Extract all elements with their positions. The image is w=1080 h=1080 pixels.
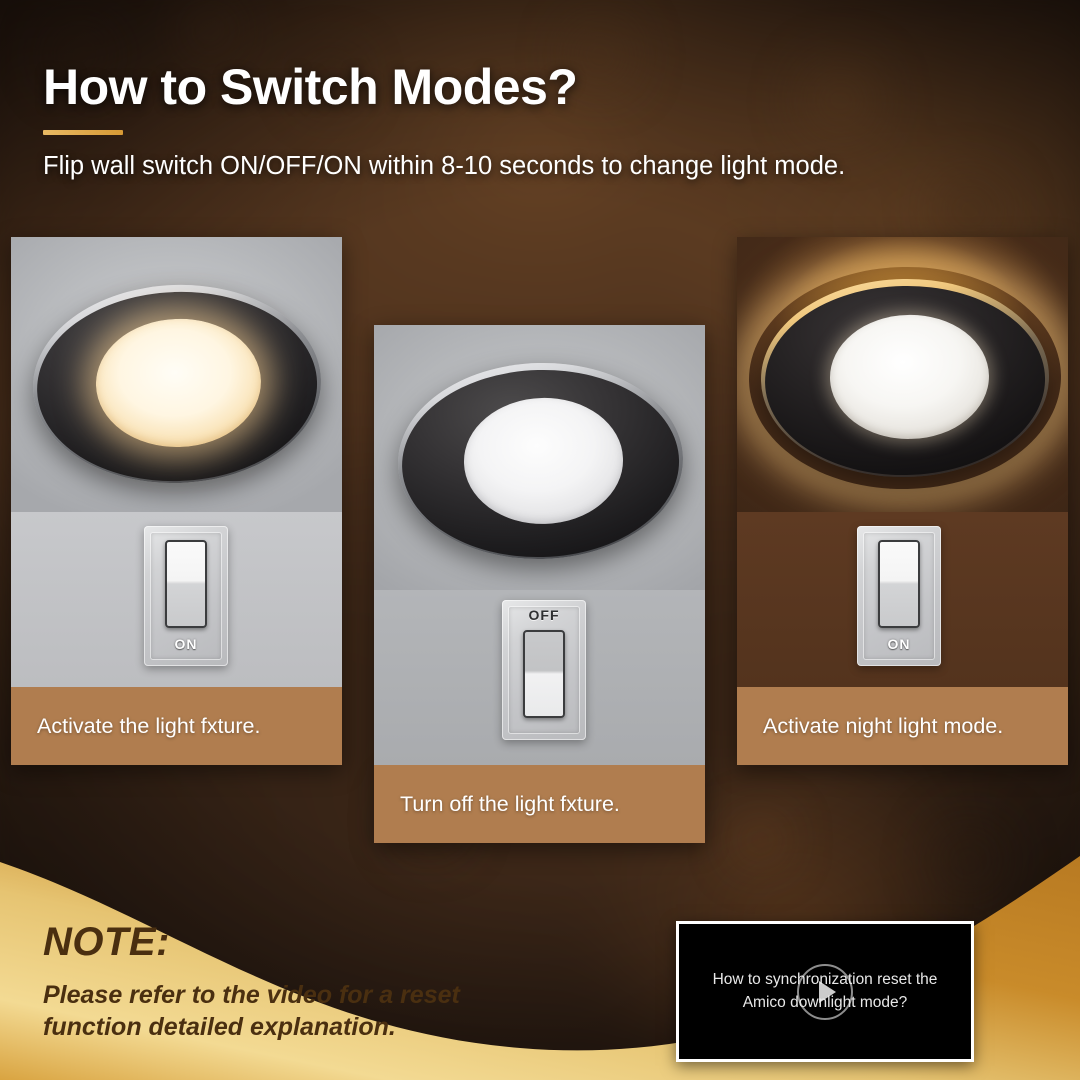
play-triangle-icon [819,981,836,1003]
step-1-switch-area: ON [11,512,342,687]
step-1-photo [11,237,342,512]
play-button-icon[interactable] [797,964,853,1020]
wall-switch-plate-3[interactable]: ON [857,526,941,666]
video-thumbnail[interactable]: How to synchronization reset the Amico d… [676,921,974,1062]
step-1-caption: Activate the light fxture. [11,687,342,765]
step-card-3: ON Activate night light mode. [737,237,1068,765]
step-3-caption: Activate night light mode. [737,687,1068,765]
step-2-switch-area: OFF [374,590,705,765]
wall-switch-plate-1[interactable]: ON [144,526,228,666]
title-underline-rule [43,130,123,135]
note-body: Please refer to the video for a reset fu… [43,979,563,1043]
step-3-caption-text: Activate night light mode. [763,714,1003,739]
led-downlight-fixture-on [30,280,325,488]
note-title: NOTE: [43,920,563,965]
header: How to Switch Modes? Flip wall switch ON… [43,58,1043,181]
rocker-switch-on[interactable] [878,540,920,628]
page-subtitle: Flip wall switch ON/OFF/ON within 8-10 s… [43,152,1043,181]
page-title: How to Switch Modes? [43,58,1043,116]
note-block: NOTE: Please refer to the video for a re… [43,920,563,1043]
led-downlight-fixture-nightlight [759,277,1050,480]
step-card-1: ON Activate the light fxture. [11,237,342,765]
wall-switch-plate-2[interactable]: OFF [502,600,586,740]
step-3-switch-area: ON [737,512,1068,687]
step-2-photo [374,325,705,590]
step-card-2: OFF Turn off the light fxture. [374,325,705,843]
rocker-switch-on[interactable] [165,540,207,628]
rocker-switch-off[interactable] [523,630,565,718]
step-1-caption-text: Activate the light fxture. [37,714,260,739]
step-3-photo [737,237,1068,512]
led-downlight-fixture-off [395,359,685,562]
